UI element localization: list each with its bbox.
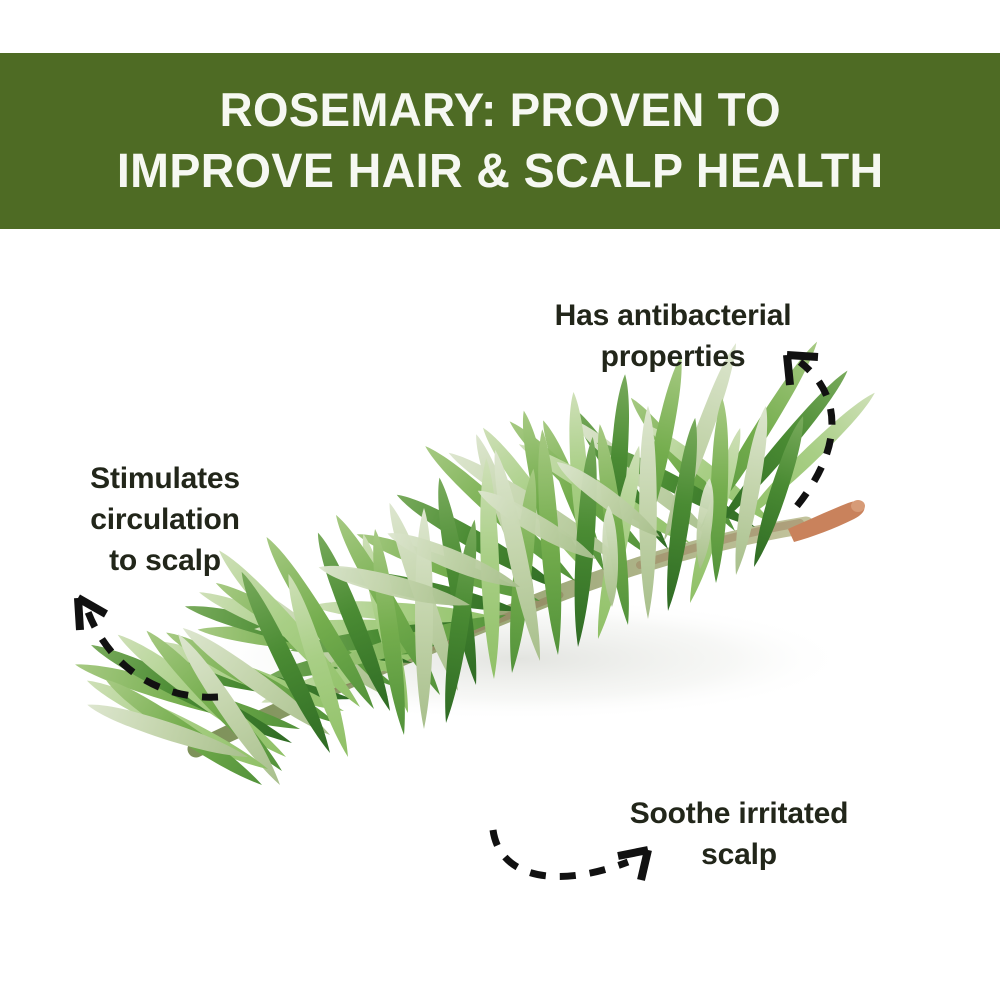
banner-title-line-2: IMPROVE HAIR & SCALP HEALTH (117, 141, 884, 203)
annotation-circulation-line-3: to scalp (40, 540, 290, 581)
annotation-soothe-line-1: Soothe irritated (573, 793, 905, 834)
annotation-antibacterial-line-1: Has antibacterial (500, 295, 846, 336)
annotation-antibacterial: Has antibacterial properties (500, 295, 846, 377)
banner-title-line-1: ROSEMARY: PROVEN TO (219, 79, 780, 141)
infographic-page: ROSEMARY: PROVEN TO IMPROVE HAIR & SCALP… (0, 0, 1000, 1000)
annotation-soothe: Soothe irritated scalp (573, 793, 905, 875)
annotation-circulation-line-1: Stimulates (40, 458, 290, 499)
annotation-antibacterial-line-2: properties (500, 336, 846, 377)
header-banner: ROSEMARY: PROVEN TO IMPROVE HAIR & SCALP… (0, 53, 1000, 229)
annotation-circulation: Stimulates circulation to scalp (40, 458, 290, 581)
annotation-circulation-line-2: circulation (40, 499, 290, 540)
annotation-soothe-line-2: scalp (573, 834, 905, 875)
